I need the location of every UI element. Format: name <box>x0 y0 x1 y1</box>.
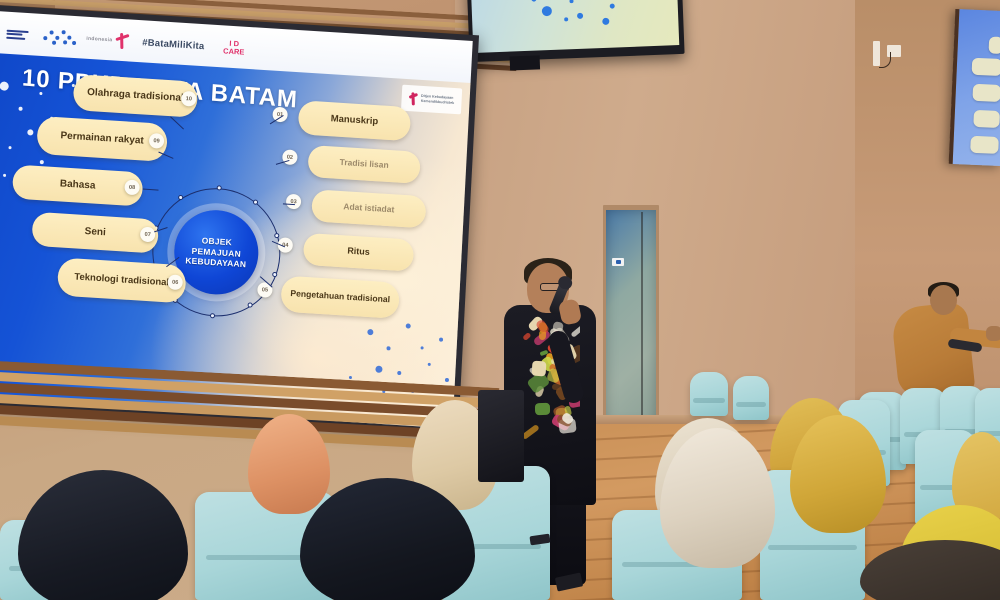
secondary-display-pill <box>988 36 1000 54</box>
decor-dot-blue <box>439 337 443 341</box>
hub-node <box>178 195 183 200</box>
merdeka-belajar-logo-icon <box>41 26 78 48</box>
secondary-display-pill <box>970 136 999 154</box>
tv-decor-dot <box>542 6 552 16</box>
assistant-torso <box>891 301 976 398</box>
secondary-display <box>949 9 1000 166</box>
spoke-line <box>142 189 158 191</box>
logo-dot <box>62 30 66 34</box>
decor-dot-blue <box>397 371 401 375</box>
assistant-hand <box>986 326 1000 341</box>
ceiling-tv-monitor: disional <box>466 0 684 62</box>
decor-dot-white <box>8 146 11 149</box>
decor-dot-blue <box>375 366 382 373</box>
decor-dot-blue <box>349 376 352 379</box>
presentation-photo-scene: disional indonesia #BataMiliKita I D CAR… <box>0 0 1000 600</box>
glass-door[interactable] <box>606 210 656 425</box>
scarf-pattern <box>531 361 546 377</box>
slide-item-pill: Adat istiadat <box>311 189 426 228</box>
decor-dot-blue <box>406 323 411 328</box>
tv-decor-dot <box>577 13 583 19</box>
audience-member-dark-hijab <box>18 470 188 600</box>
decor-dot-white <box>27 129 33 135</box>
secondary-display-pill <box>972 58 1000 76</box>
slide-item-number: 03 <box>286 194 302 210</box>
hub-text: OBJEKPEMAJUANKEBUDAYAAN <box>185 235 248 270</box>
scarf-pattern <box>570 323 580 337</box>
hub-node <box>248 303 253 308</box>
corner-bird-icon <box>409 92 419 106</box>
slide-item-pill: Tradisi lisan <box>307 145 420 184</box>
slide-item-pill: Manuskrip <box>298 100 412 141</box>
assistant-head <box>930 285 957 315</box>
tv-mount <box>510 55 541 70</box>
tv-decor-dot <box>531 0 536 2</box>
decor-dot-blue <box>421 346 424 349</box>
logo-dot <box>50 30 54 34</box>
hub-node <box>209 313 214 318</box>
logo-dot <box>55 36 59 40</box>
i-care-badge: I D CARE <box>223 39 245 56</box>
logo-dot <box>67 36 71 40</box>
door-sign-icon <box>612 258 624 266</box>
door-rail <box>641 212 643 420</box>
decor-dot-white <box>18 107 22 111</box>
decor-dot-blue <box>386 346 390 350</box>
slide-item-pill: Ritus <box>303 233 414 272</box>
logo-dot <box>43 36 47 40</box>
decor-dot-blue <box>367 329 373 335</box>
i-care-line2: CARE <box>223 47 245 56</box>
kemendikbudristek-logo-icon <box>6 23 33 46</box>
indonesia-bird-logo-icon: indonesia <box>86 31 130 50</box>
tv-decor-dot <box>569 0 573 3</box>
corner-logo-text: Ditjen KebudayaanKemendikbudristek <box>421 94 455 105</box>
decor-dot-white <box>3 174 6 177</box>
scarf-pattern <box>535 403 550 415</box>
tv-decor-dot <box>602 18 609 25</box>
slide-corner-logo: Ditjen KebudayaanKemendikbudristek <box>401 85 462 115</box>
hub-node <box>216 185 221 190</box>
hub-node <box>272 272 277 277</box>
tv-decor-dot <box>610 3 615 8</box>
logo-dot <box>52 41 56 45</box>
secondary-display-pill <box>972 84 1000 102</box>
hashtag-text: #BataMiliKita <box>142 37 205 52</box>
decor-dot-blue <box>428 363 431 366</box>
av-equipment-box <box>478 390 524 482</box>
secondary-display-pill <box>973 110 1000 128</box>
hub-node <box>253 199 258 204</box>
scarf-pattern <box>522 332 531 341</box>
decor-dot-white <box>39 92 42 95</box>
slide-item-pill: Pengetahuan tradisional <box>280 275 400 318</box>
decor-dot-blue <box>445 378 449 382</box>
audience-chair[interactable] <box>690 372 728 416</box>
slide-item-pill: Olahraga tradisional <box>73 74 199 118</box>
audience-chair[interactable] <box>733 376 769 420</box>
hub-node <box>275 233 280 238</box>
slide-item-number: 02 <box>282 149 298 165</box>
logo-dot <box>63 40 67 44</box>
spoke-line <box>170 116 184 129</box>
tv-screen: disional <box>471 0 680 53</box>
logo-dot <box>72 41 76 45</box>
spoke-line <box>283 203 295 205</box>
decor-dot-white <box>0 81 9 91</box>
tv-decor-dot <box>564 17 568 21</box>
decor-dot-white <box>40 160 44 164</box>
